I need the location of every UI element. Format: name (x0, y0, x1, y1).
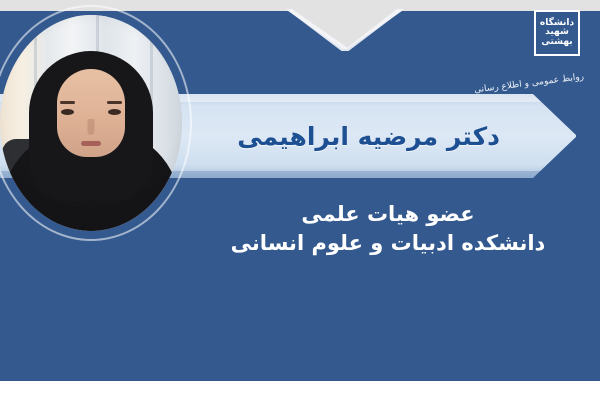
faculty-subtitle-block: عضو هیات علمی دانشکده ادبیات و علوم انسا… (190, 200, 586, 258)
faculty-name-title: دکتر مرضیه ابراهیمی (237, 94, 500, 178)
faculty-position-text: عضو هیات علمی (190, 200, 586, 229)
faculty-profile-poster: دکتر مرضیه ابراهیمی عضو هیات علمی دانشکد… (0, 0, 600, 400)
faculty-department-text: دانشکده ادبیات و علوم انسانی (190, 229, 586, 258)
portrait-frame (0, 7, 190, 239)
university-logo: دانشگاه شهید بهشتی روابط عمومی و اطلاع ر… (482, 6, 586, 84)
university-emblem-icon: دانشگاه شهید بهشتی (534, 10, 580, 56)
university-emblem-inner: دانشگاه شهید بهشتی (539, 15, 575, 51)
photo-vignette (0, 15, 182, 231)
portrait-photo (0, 15, 182, 231)
bottom-white-band (0, 381, 600, 400)
emblem-line-3: بهشتی (541, 38, 572, 47)
